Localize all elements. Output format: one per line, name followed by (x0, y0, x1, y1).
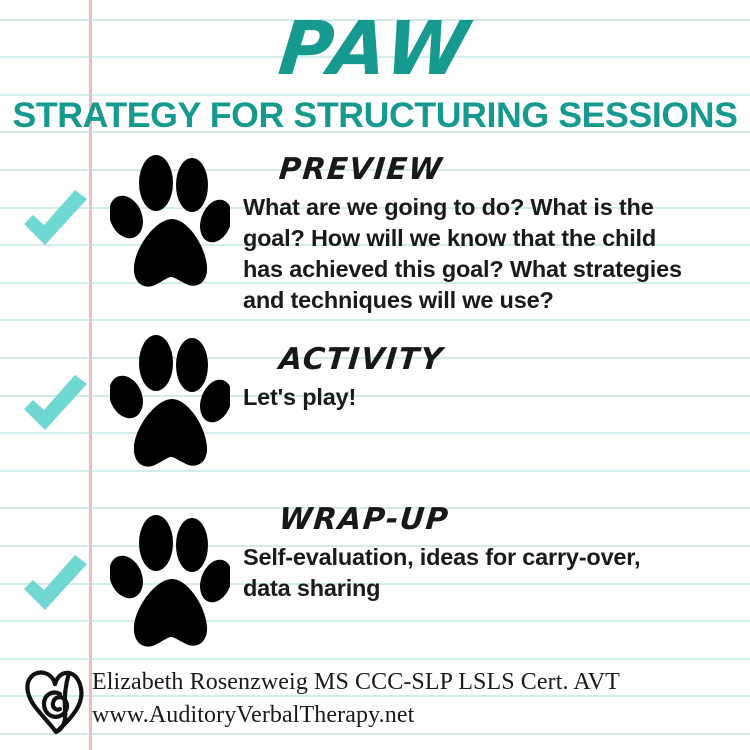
checkmark-icon (18, 553, 92, 627)
infographic-canvas: PAW STRATEGY FOR STRUCTURING SESSIONS PR… (0, 0, 750, 750)
section-wrap-up-heading: WRAP-UP (278, 505, 735, 535)
section-activity-heading: ACTIVITY (278, 345, 735, 375)
header-block: PAW STRATEGY FOR STRUCTURING SESSIONS (0, 0, 750, 133)
page-title: PAW (0, 12, 750, 86)
footer-author: Elizabeth Rosenzweig MS CCC-SLP LSLS Cer… (92, 666, 620, 699)
section-wrap-up-body: Self-evaluation, ideas for carry-over, d… (243, 542, 733, 604)
section-wrap-up-text: WRAP-UP Self-evaluation, ideas for carry… (243, 505, 733, 604)
checkmark-icon (18, 373, 92, 447)
paw-print-icon (110, 335, 230, 475)
footer-credit: Elizabeth Rosenzweig MS CCC-SLP LSLS Cer… (92, 666, 620, 732)
paw-print-icon (110, 155, 230, 295)
checkmark-icon (18, 188, 92, 262)
paw-print-icon (110, 515, 230, 655)
heart-spiral-logo-icon (22, 664, 88, 738)
footer-website: www.AuditoryVerbalTherapy.net (92, 699, 620, 732)
section-preview-heading: PREVIEW (278, 155, 735, 185)
section-preview-text: PREVIEW What are we going to do? What is… (243, 155, 733, 316)
section-activity-body: Let's play! (243, 382, 733, 413)
footer-block: Elizabeth Rosenzweig MS CCC-SLP LSLS Cer… (0, 662, 750, 750)
section-preview-body: What are we going to do? What is the goa… (243, 192, 733, 316)
section-activity-text: ACTIVITY Let's play! (243, 345, 733, 413)
page-subtitle: STRATEGY FOR STRUCTURING SESSIONS (0, 98, 750, 133)
